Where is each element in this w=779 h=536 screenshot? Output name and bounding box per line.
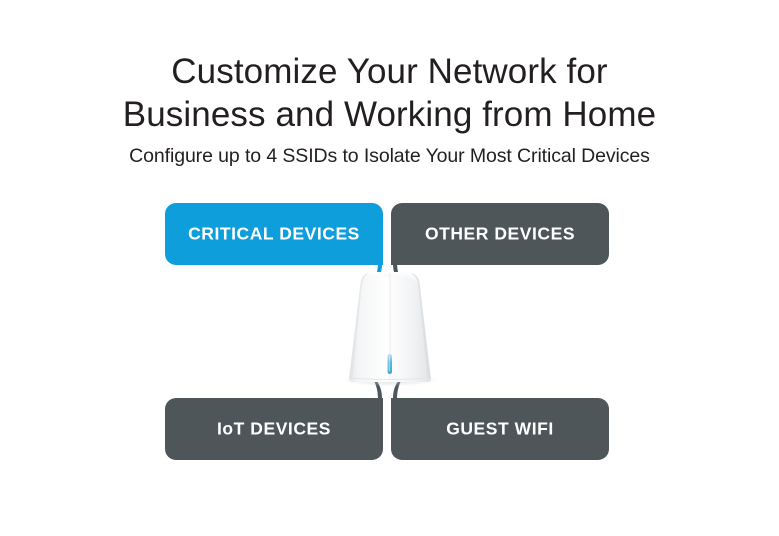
ssid-bubble-label: OTHER DEVICES: [425, 223, 575, 244]
ssid-bubble-label: GUEST WIFI: [446, 418, 554, 439]
ssid-bubble-label: CRITICAL DEVICES: [188, 223, 360, 244]
ssid-diagram: CRITICAL DEVICES OTHER DEVICES IoT DEVIC…: [0, 0, 779, 536]
ssid-bubble-iot-devices[interactable]: IoT DEVICES: [165, 398, 383, 460]
wifi-router-icon: [326, 266, 454, 386]
promo-graphic: Customize Your Network for Business and …: [0, 0, 779, 536]
ssid-bubble-other-devices[interactable]: OTHER DEVICES: [391, 203, 609, 265]
ssid-bubble-critical-devices[interactable]: CRITICAL DEVICES: [165, 203, 383, 265]
ssid-bubble-label: IoT DEVICES: [217, 418, 331, 439]
ssid-bubble-guest-wifi[interactable]: GUEST WIFI: [391, 398, 609, 460]
